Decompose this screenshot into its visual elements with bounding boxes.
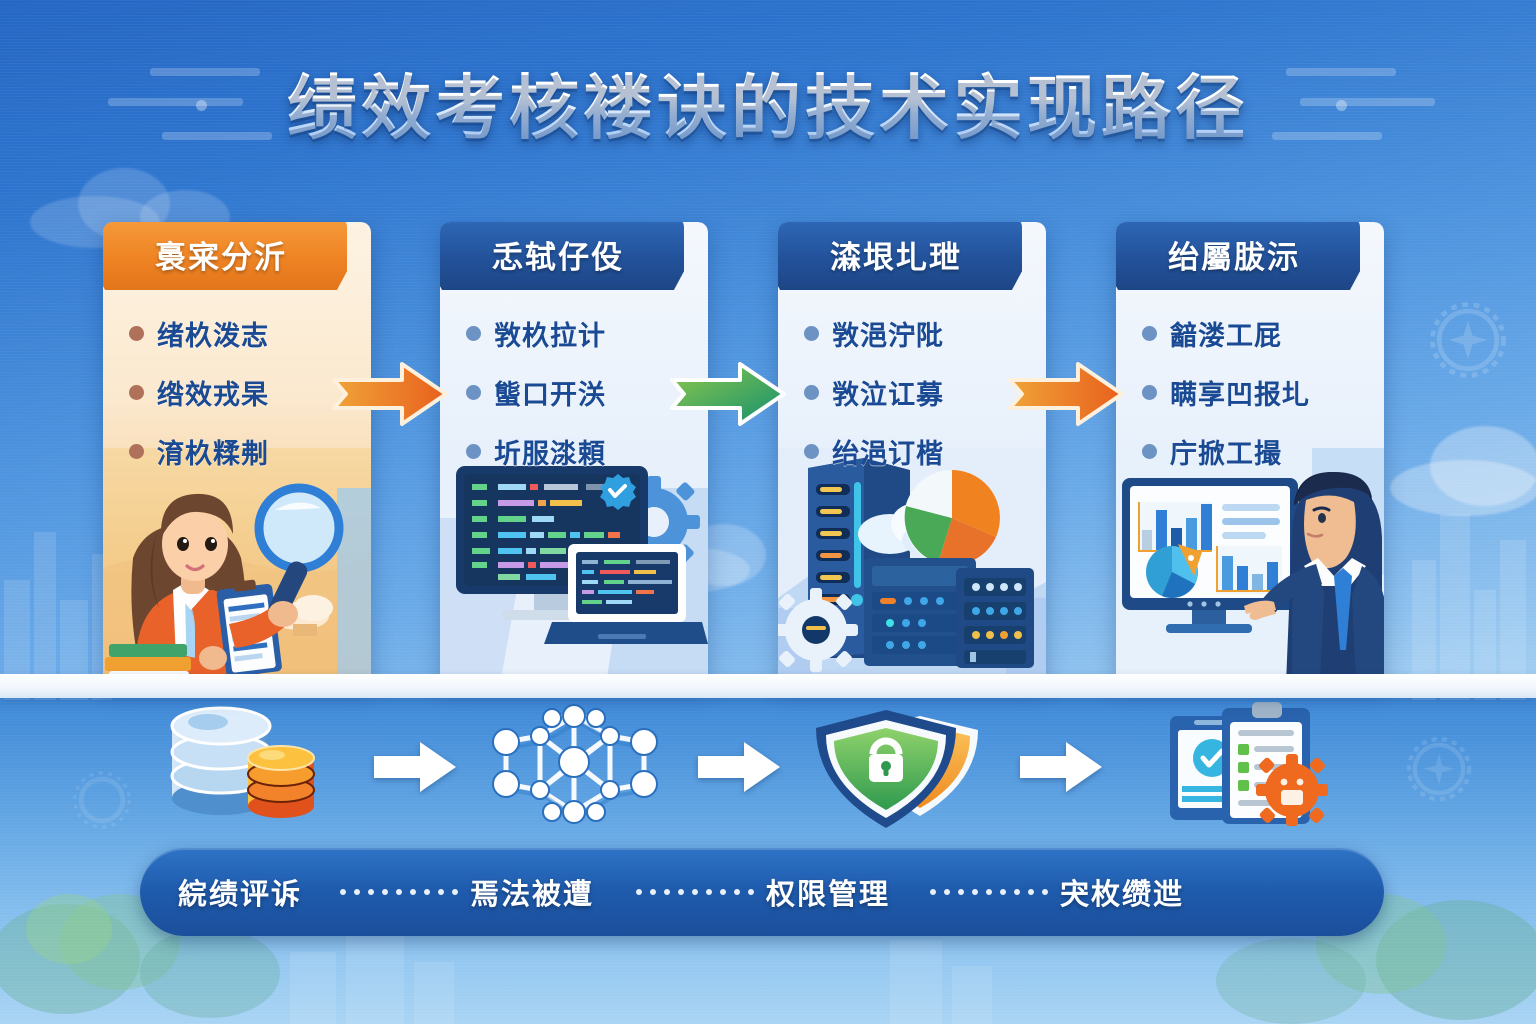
bullet-dot-icon	[804, 326, 819, 341]
card-1-bullet-list: 绪杦泼志 绺效戎杲 淯杦糅刜	[129, 314, 359, 491]
infographic-canvas: 绩效考核褛诀的技术实现路径	[0, 0, 1536, 1024]
card-4-header: 绐屬胈沶	[1116, 222, 1360, 290]
bullet-dot-icon	[804, 444, 819, 459]
card-4-bullet-2-label: 瞒享凹报圠	[1170, 373, 1310, 412]
bullet-dot-icon	[466, 444, 481, 459]
flow-arrow-1-orange	[330, 358, 450, 435]
card-4-bullet-list: 韽溇工屁 瞒享凹报圠 庁掀工撮	[1142, 314, 1372, 491]
card-3-bullet-1: 敩浥泞阰	[804, 314, 1034, 353]
card-1-bullet-2: 绺效戎杲	[129, 373, 359, 412]
flow-arrow-2-green	[668, 358, 788, 435]
pipeline-separator-2	[636, 889, 754, 895]
process-card-2[interactable]: 忎轼仔伇 敩杦拉计 螚口开浂 圻服渁頼	[440, 222, 708, 684]
pipeline-step-4-label: 宊枚缵迣	[1060, 871, 1184, 913]
database-stack-icon	[152, 700, 362, 830]
card-3-header: 潹垠圠玴	[778, 222, 1022, 290]
technology-pipeline: 綄绩评诉 焉法被遭 权限管理 宊枚缵迣	[0, 700, 1536, 960]
card-2-bullet-1-label: 敩杦拉计	[494, 314, 606, 353]
pipeline-step-3-icon-group[interactable]	[800, 700, 1010, 830]
card-2-bullet-3: 圻服渁頼	[466, 432, 696, 471]
card-4-bullet-3: 庁掀工撮	[1142, 432, 1372, 471]
pipeline-step-1-icon-group[interactable]	[152, 700, 362, 830]
bullet-dot-icon	[1142, 444, 1157, 459]
right-arrow-icon	[1014, 738, 1106, 796]
pipeline-separator-1	[340, 889, 458, 895]
process-card-3[interactable]: 潹垠圠玴 敩浥泞阰 敩泣讧募 绐浥订楷	[778, 222, 1046, 684]
card-3-bullet-3: 绐浥订楷	[804, 432, 1034, 471]
card-3-bullet-2: 敩泣讧募	[804, 373, 1034, 412]
pipeline-icon-row	[0, 700, 1536, 830]
card-2-header-label: 忎轼仔伇	[492, 232, 624, 277]
bullet-dot-icon	[129, 444, 144, 459]
bullet-dot-icon	[129, 385, 144, 400]
pipeline-label-bar: 綄绩评诉 焉法被遭 权限管理 宊枚缵迣	[140, 848, 1384, 936]
pipeline-step-2-icon-group[interactable]	[470, 700, 680, 830]
card-4-bullet-1: 韽溇工屁	[1142, 314, 1372, 353]
card-1-header-label: 裛宷分沂	[155, 232, 287, 277]
pipeline-arrow-3	[1014, 738, 1106, 801]
pipeline-step-4-icon-group[interactable]	[1126, 700, 1336, 830]
bullet-dot-icon	[1142, 326, 1157, 341]
card-3-bullet-3-label: 绐浥订楷	[832, 432, 944, 471]
page-title: 绩效考核褛诀的技术实现路径	[287, 52, 1249, 153]
process-card-4[interactable]: 绐屬胈沶 韽溇工屁 瞒享凹报圠 庁掀工撮	[1116, 222, 1384, 684]
card-1-bullet-3: 淯杦糅刜	[129, 432, 359, 471]
card-1-bullet-1: 绪杦泼志	[129, 314, 359, 353]
card-3-bullet-2-label: 敩泣讧募	[832, 373, 944, 412]
card-2-bullet-2: 螚口开浂	[466, 373, 696, 412]
card-1-bullet-3-label: 淯杦糅刜	[157, 432, 269, 471]
pipeline-separator-3	[930, 889, 1048, 895]
pipeline-step-3-label: 权限管理	[766, 871, 890, 913]
shield-lock-icon	[800, 700, 1010, 830]
card-2-header: 忎轼仔伇	[440, 222, 684, 290]
process-card-1[interactable]: 裛宷分沂 绪杦泼志 绺效戎杲 淯杦糅刜	[103, 222, 371, 684]
flow-arrow-3-orange	[1006, 358, 1126, 435]
bullet-dot-icon	[804, 385, 819, 400]
bullet-dot-icon	[1142, 385, 1157, 400]
card-4-header-label: 绐屬胈沶	[1168, 232, 1300, 277]
bullet-dot-icon	[466, 326, 481, 341]
pipeline-arrow-1	[368, 738, 460, 801]
pipeline-arrow-2	[692, 738, 784, 801]
card-1-bullet-2-label: 绺效戎杲	[157, 373, 269, 412]
card-4-bullet-1-label: 韽溇工屁	[1170, 314, 1282, 353]
clipboard-checklist-icon	[1126, 700, 1336, 830]
right-arrow-icon	[368, 738, 460, 796]
card-2-bullet-list: 敩杦拉计 螚口开浂 圻服渁頼	[466, 314, 696, 491]
card-1-header: 裛宷分沂	[103, 222, 347, 290]
pipeline-step-2-label: 焉法被遭	[470, 871, 594, 913]
card-4-bullet-3-label: 庁掀工撮	[1170, 432, 1282, 471]
card-3-bullet-list: 敩浥泞阰 敩泣讧募 绐浥订楷	[804, 314, 1034, 491]
card-2-bullet-2-label: 螚口开浂	[494, 373, 606, 412]
right-arrow-icon	[692, 738, 784, 796]
card-3-header-label: 潹垠圠玴	[830, 232, 962, 277]
shelf-divider	[0, 674, 1536, 698]
page-title-container: 绩效考核褛诀的技术实现路径	[0, 52, 1536, 153]
card-2-bullet-1: 敩杦拉计	[466, 314, 696, 353]
card-3-bullet-1-label: 敩浥泞阰	[832, 314, 944, 353]
neural-network-icon	[470, 700, 680, 830]
pipeline-step-1-label: 綄绩评诉	[178, 871, 302, 913]
card-2-bullet-3-label: 圻服渁頼	[494, 432, 606, 471]
card-1-bullet-1-label: 绪杦泼志	[157, 314, 269, 353]
bullet-dot-icon	[466, 385, 481, 400]
card-4-bullet-2: 瞒享凹报圠	[1142, 373, 1372, 412]
process-cards-row: 裛宷分沂 绪杦泼志 绺效戎杲 淯杦糅刜	[0, 222, 1536, 692]
bullet-dot-icon	[129, 326, 144, 341]
